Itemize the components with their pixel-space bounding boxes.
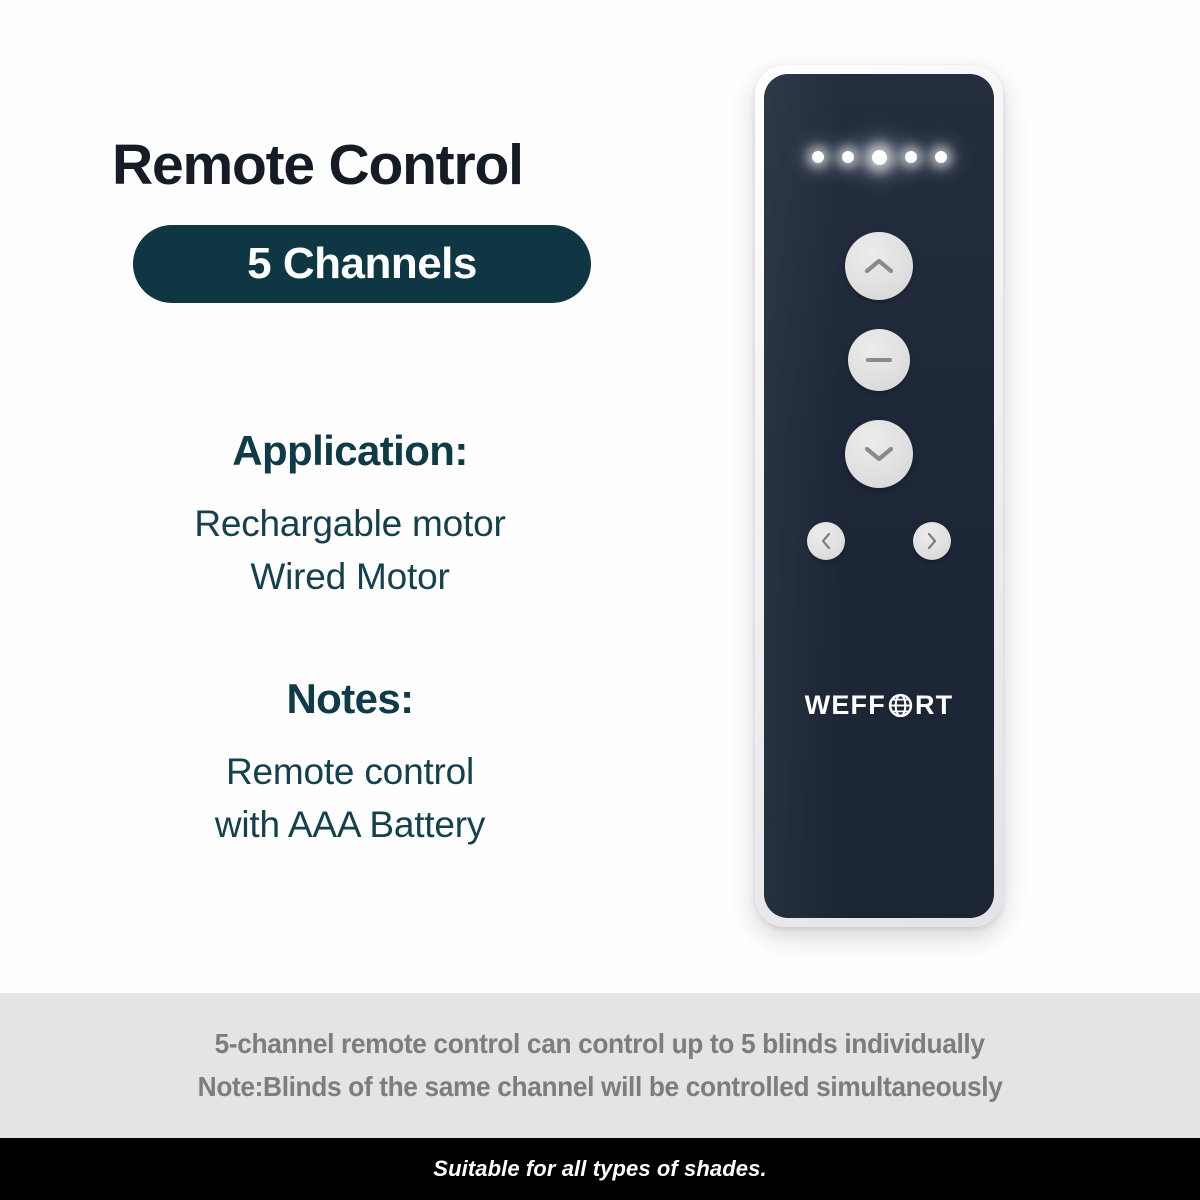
up-button[interactable]: [845, 232, 913, 300]
footer-text: Suitable for all types of shades.: [433, 1158, 766, 1180]
channel-led-1: [812, 151, 824, 163]
minus-icon: [866, 358, 892, 362]
chevron-up-icon: [864, 257, 894, 275]
page-title: Remote Control: [112, 137, 523, 194]
stop-button[interactable]: [848, 329, 910, 391]
channels-badge-label: 5 Channels: [247, 242, 477, 286]
notes-line-2: with AAA Battery: [0, 799, 700, 852]
product-infographic: Remote Control 5 Channels Application: R…: [0, 0, 1200, 1200]
device-body: WEFF RT: [764, 74, 994, 918]
caption-band: 5-channel remote control can control up …: [0, 993, 1200, 1138]
brand-logo: WEFF RT: [764, 692, 994, 719]
footer-bar: Suitable for all types of shades.: [0, 1138, 1200, 1200]
remote-control-device: WEFF RT: [755, 65, 1003, 927]
caption-line-1: 5-channel remote control can control up …: [215, 1023, 985, 1066]
notes-line-1: Remote control: [0, 746, 700, 799]
brand-text-suffix: RT: [915, 692, 953, 719]
channel-led-row: [764, 140, 994, 174]
channel-led-2: [842, 151, 854, 163]
channel-led-4: [905, 151, 917, 163]
prev-channel-button[interactable]: [807, 522, 845, 560]
application-heading: Application:: [0, 428, 700, 474]
brand-text-prefix: WEFF: [805, 692, 886, 719]
application-section: Application: Rechargable motor Wired Mot…: [0, 428, 700, 603]
notes-heading: Notes:: [0, 676, 700, 722]
chevron-right-icon: [926, 532, 938, 550]
globe-icon: [888, 693, 913, 718]
channel-led-3: [872, 150, 887, 165]
info-column: Remote Control 5 Channels Application: R…: [0, 0, 700, 993]
channel-led-5: [935, 151, 947, 163]
application-body: Rechargable motor Wired Motor: [0, 498, 700, 603]
application-line-1: Rechargable motor: [0, 498, 700, 551]
notes-section: Notes: Remote control with AAA Battery: [0, 676, 700, 851]
chevron-left-icon: [820, 532, 832, 550]
down-button[interactable]: [845, 420, 913, 488]
application-line-2: Wired Motor: [0, 551, 700, 604]
notes-body: Remote control with AAA Battery: [0, 746, 700, 851]
channels-badge: 5 Channels: [133, 225, 591, 303]
chevron-down-icon: [864, 445, 894, 463]
next-channel-button[interactable]: [913, 522, 951, 560]
caption-line-2: Note:Blinds of the same channel will be …: [198, 1066, 1003, 1109]
